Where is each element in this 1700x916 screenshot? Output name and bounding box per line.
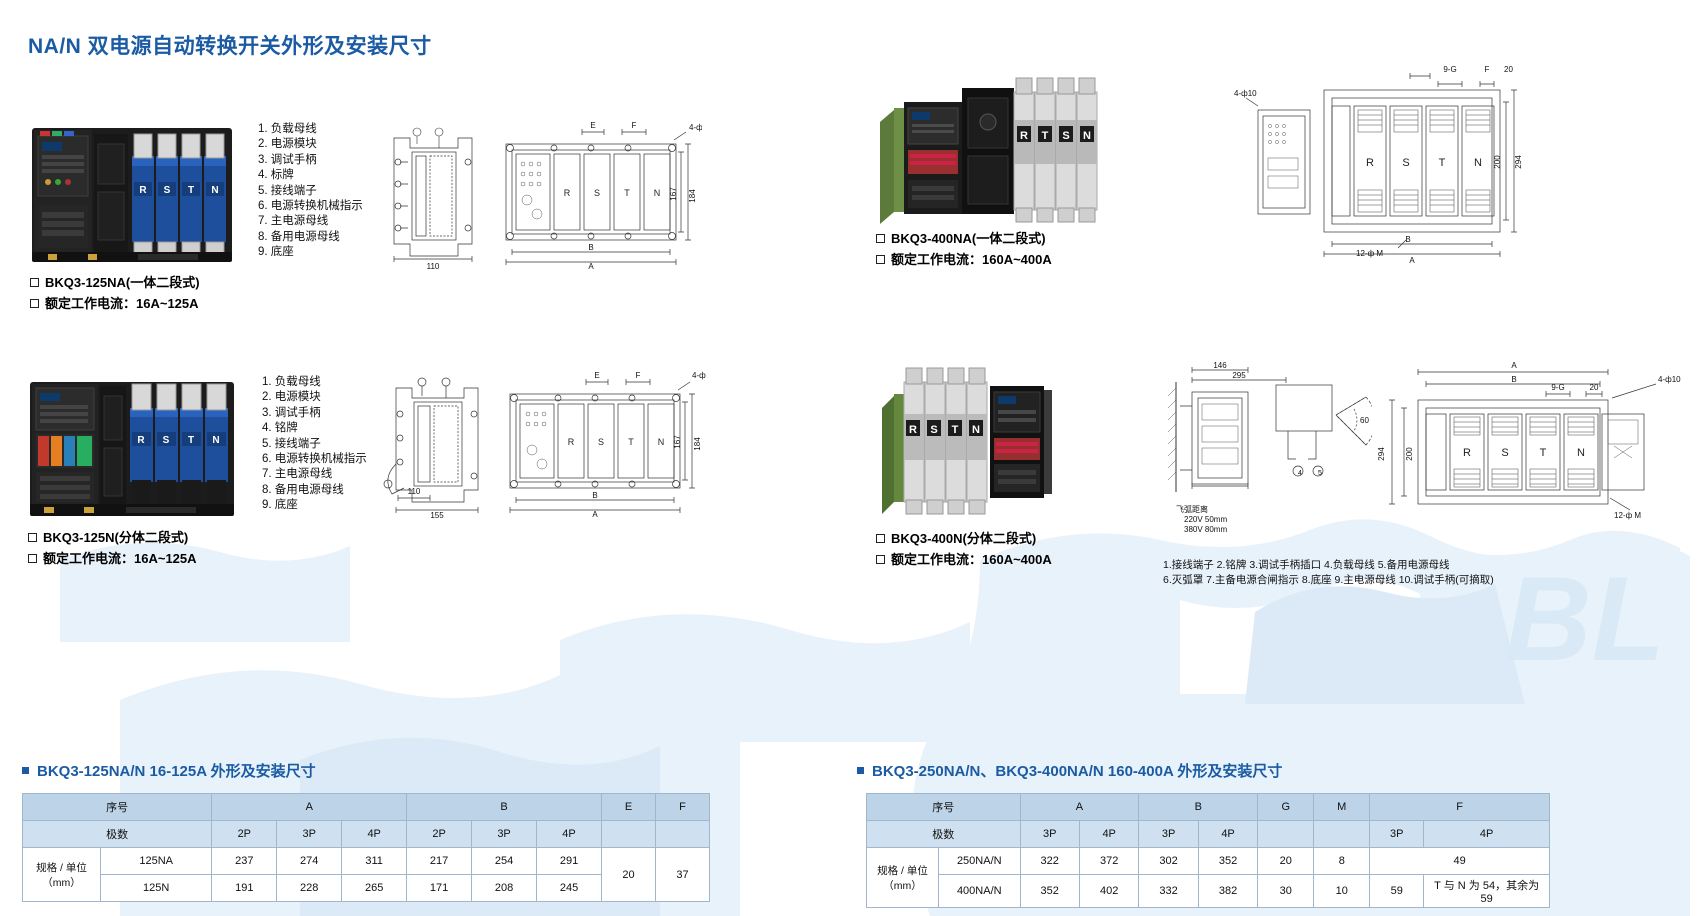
callout-item: 4. 标牌 — [258, 168, 363, 183]
callout-item: 5. 接线端子 — [258, 184, 363, 199]
td-model: 125NA — [101, 848, 212, 875]
section-heading-table-400: BKQ3-250NA/N、BKQ3-400NA/N 160-400A 外形及安装… — [857, 760, 1282, 781]
th-b-3p: 3P — [1139, 821, 1198, 848]
drawing-bkq3-400na: R S T N — [1232, 62, 1532, 267]
table-row: 规格 / 单位（mm） 250NA/N 322 372 302 352 20 8… — [867, 848, 1550, 875]
dim-hole: 4-ф10 — [1658, 375, 1681, 384]
td-spec-unit: 规格 / 单位（mm） — [23, 848, 101, 902]
th-group-b: B — [1139, 794, 1258, 821]
dim-F: F — [1485, 65, 1490, 74]
caption-bkq3-125na: BKQ3-125NA(一体二段式) 额定工作电流：16A~125A — [30, 272, 200, 314]
td-a-4p: 372 — [1079, 848, 1138, 875]
svg-text:R: R — [1463, 447, 1471, 459]
dim-295: 295 — [1232, 371, 1246, 380]
caption-row: 额定工作电流：160A~400A — [876, 249, 1052, 270]
td-a-3p: 274 — [277, 848, 342, 875]
td-a-3p: 228 — [277, 875, 342, 902]
td-M: 8 — [1314, 848, 1370, 875]
callout-item: 7. 主电源母线 — [262, 467, 367, 482]
td-b-2p: 171 — [407, 875, 472, 902]
drawing-side-view-bkq3-125n: 110 155 — [378, 372, 508, 518]
product-photo-bkq3-125na: R S T — [28, 120, 238, 265]
th-F-blank — [656, 821, 710, 848]
svg-text:N: N — [211, 185, 218, 196]
dim-F: F — [632, 122, 637, 130]
th-E: E — [602, 794, 656, 821]
notes-bkq3-400n: 1.接线端子 2.铭牌 3.调试手柄插口 4.负载母线 5.备用电源母线 6.灭… — [1163, 558, 1494, 588]
table-row: 序号 A B E F — [23, 794, 710, 821]
checkbox-icon[interactable] — [28, 533, 37, 542]
caption-bkq3-400n: BKQ3-400N(分体二段式) 额定工作电流：160A~400A — [876, 528, 1052, 570]
svg-text:R: R — [1020, 130, 1028, 142]
callout-item: 2. 电源模块 — [262, 390, 367, 405]
svg-text:5: 5 — [1318, 470, 1322, 477]
callout-item: 7. 主电源母线 — [258, 214, 363, 229]
callout-item: 9. 底座 — [262, 498, 367, 513]
bullet-square-icon — [22, 767, 29, 774]
svg-text:N: N — [212, 435, 219, 446]
section-heading-table-125: BKQ3-125NA/N 16-125A 外形及安装尺寸 — [22, 760, 316, 781]
dim-E: E — [594, 371, 599, 380]
callout-item: 4. 铭牌 — [262, 421, 367, 436]
table-row: 极数 2P 3P 4P 2P 3P 4P — [23, 821, 710, 848]
td-b-4p: 352 — [1198, 848, 1257, 875]
th-b-4p: 4P — [537, 821, 602, 848]
td-model: 250NA/N — [939, 848, 1021, 875]
svg-text:N: N — [1577, 447, 1585, 459]
th-M: M — [1314, 794, 1370, 821]
svg-text:S: S — [930, 424, 937, 436]
checkbox-icon[interactable] — [876, 255, 885, 264]
checkbox-icon[interactable] — [30, 278, 39, 287]
th-f-3p: 3P — [1370, 821, 1424, 848]
dim-184: 184 — [688, 189, 697, 203]
caption-row: 额定工作电流：16A~125A — [28, 548, 197, 569]
notes-line: 6.灭弧罩 7.主备电源合闸指示 8.底座 9.主电源母线 10.调试手柄(可摘… — [1163, 573, 1494, 588]
svg-text:T: T — [1439, 157, 1446, 169]
drawing-front-view-bkq3-125n: R S T N — [500, 368, 706, 518]
th-b-4p: 4P — [1198, 821, 1257, 848]
td-b-2p: 217 — [407, 848, 472, 875]
callout-item: 3. 调试手柄 — [262, 406, 367, 421]
th-xuhao: 序号 — [23, 794, 212, 821]
dim-A: A — [588, 262, 594, 270]
dim-294: 294 — [1514, 155, 1523, 169]
td-b-3p: 332 — [1139, 875, 1198, 908]
th-jishu: 极数 — [23, 821, 212, 848]
section-heading-text: BKQ3-250NA/N、BKQ3-400NA/N 160-400A 外形及安装… — [872, 760, 1282, 781]
svg-text:4: 4 — [1298, 470, 1302, 477]
caption-text: BKQ3-400NA(一体二段式) — [891, 228, 1046, 249]
svg-text:N: N — [654, 188, 661, 198]
caption-bkq3-125n: BKQ3-125N(分体二段式) 额定工作电流：16A~125A — [28, 527, 197, 569]
td-model: 125N — [101, 875, 212, 902]
caption-text: BKQ3-400N(分体二段式) — [891, 528, 1036, 549]
table-125na-n: 序号 A B E F 极数 2P 3P 4P 2P 3P 4P 规格 / 单位（… — [22, 793, 710, 902]
product-photo-bkq3-400n: R S T N — [876, 360, 1098, 518]
dim-mount: 12-ф M — [1356, 249, 1383, 258]
caption-row: BKQ3-400NA(一体二段式) — [876, 228, 1052, 249]
th-group-a: A — [1020, 794, 1139, 821]
section-heading-text: BKQ3-125NA/N 16-125A 外形及安装尺寸 — [37, 760, 316, 781]
svg-text:T: T — [188, 435, 194, 446]
td-f-400-3p: 59 — [1370, 875, 1424, 908]
th-jishu: 极数 — [867, 821, 1021, 848]
dim-A: A — [1409, 256, 1415, 265]
svg-text:R: R — [909, 424, 917, 436]
caption-row: 额定工作电流：160A~400A — [876, 549, 1052, 570]
svg-text:R: R — [564, 188, 571, 198]
td-a-3p: 352 — [1020, 875, 1079, 908]
svg-text:N: N — [1083, 130, 1091, 142]
th-G-blank — [1258, 821, 1314, 848]
checkbox-icon[interactable] — [28, 554, 37, 563]
td-a-2p: 191 — [212, 875, 277, 902]
dim-146: 146 — [1213, 362, 1227, 370]
dim-A: A — [592, 510, 598, 518]
td-model: 400NA/N — [939, 875, 1021, 908]
arc-distance-note: 飞弧距离 220V 50mm 380V 80mm — [1176, 505, 1227, 535]
caption-text: 额定工作电流：160A~400A — [891, 549, 1052, 570]
arc-title: 飞弧距离 — [1176, 505, 1227, 515]
notes-line: 1.接线端子 2.铭牌 3.调试手柄插口 4.负载母线 5.备用电源母线 — [1163, 558, 1494, 573]
th-a-2p: 2P — [212, 821, 277, 848]
td-b-4p: 245 — [537, 875, 602, 902]
caption-row: 额定工作电流：16A~125A — [30, 293, 200, 314]
caption-text: BKQ3-125N(分体二段式) — [43, 527, 188, 548]
td-a-4p: 311 — [342, 848, 407, 875]
dim-mount: 12-ф M — [1614, 511, 1641, 520]
th-a-3p: 3P — [1020, 821, 1079, 848]
th-group-b: B — [407, 794, 602, 821]
dim-110: 110 — [427, 262, 440, 270]
td-a-4p: 402 — [1079, 875, 1138, 908]
svg-text:S: S — [594, 188, 600, 198]
td-G: 20 — [1258, 848, 1314, 875]
dim-167: 167 — [673, 435, 682, 449]
callout-item: 6. 电源转换机械指示 — [258, 199, 363, 214]
dim-A: A — [1511, 361, 1517, 370]
th-G: G — [1258, 794, 1314, 821]
caption-text: 额定工作电流：16A~125A — [43, 548, 197, 569]
table-row: 规格 / 单位（mm） 125NA 237 274 311 217 254 29… — [23, 848, 710, 875]
caption-text: 额定工作电流：16A~125A — [45, 293, 199, 314]
drawing-front-view-bkq3-400n: R S T N — [1374, 358, 1690, 528]
th-xuhao: 序号 — [867, 794, 1021, 821]
th-f-4p: 4P — [1424, 821, 1550, 848]
page-title: NA/N 双电源自动转换开关外形及安装尺寸 — [28, 30, 432, 60]
td-b-4p: 382 — [1198, 875, 1257, 908]
dim-200: 200 — [1493, 155, 1502, 169]
dim-200: 200 — [1405, 447, 1414, 461]
bullet-square-icon — [857, 767, 864, 774]
th-E-blank — [602, 821, 656, 848]
svg-text:T: T — [1042, 130, 1049, 142]
th-M-blank — [1314, 821, 1370, 848]
checkbox-icon[interactable] — [876, 534, 885, 543]
dim-155: 155 — [430, 511, 444, 518]
dim-20: 20 — [1590, 383, 1599, 392]
caption-text: BKQ3-125NA(一体二段式) — [45, 272, 200, 293]
svg-text:S: S — [598, 437, 604, 447]
svg-text:T: T — [1540, 447, 1547, 459]
td-f-250: 49 — [1370, 848, 1550, 875]
th-group-a: A — [212, 794, 407, 821]
dim-294: 294 — [1377, 447, 1386, 461]
td-a-2p: 237 — [212, 848, 277, 875]
dim-hole: 4-ф9 — [692, 371, 706, 380]
callout-list-bkq3-125n: 1. 负载母线 2. 电源模块 3. 调试手柄 4. 铭牌 5. 接线端子 6.… — [262, 375, 367, 514]
product-photo-bkq3-125n: R S T — [26, 372, 238, 520]
svg-text:S: S — [1501, 447, 1508, 459]
callout-item: 1. 负载母线 — [258, 122, 363, 137]
td-spec-unit: 规格 / 单位（mm） — [867, 848, 939, 908]
table-row: 400NA/N 352 402 332 382 30 10 59 T 与 N 为… — [867, 875, 1550, 908]
callout-item: 5. 接线端子 — [262, 437, 367, 452]
th-b-2p: 2P — [407, 821, 472, 848]
svg-text:S: S — [1402, 157, 1409, 169]
callout-item: 1. 负载母线 — [262, 375, 367, 390]
callout-item: 3. 调试手柄 — [258, 153, 363, 168]
drawing-side-view-bkq3-125na: 110 — [380, 122, 490, 270]
callout-item: 8. 备用电源母线 — [258, 230, 363, 245]
th-a-4p: 4P — [1079, 821, 1138, 848]
svg-text:T: T — [628, 437, 634, 447]
svg-text:T: T — [188, 185, 194, 196]
svg-text:R: R — [1366, 157, 1374, 169]
td-G: 30 — [1258, 875, 1314, 908]
svg-text:R: R — [137, 435, 145, 446]
checkbox-icon[interactable] — [876, 234, 885, 243]
dim-20: 20 — [1504, 65, 1513, 74]
svg-text:S: S — [163, 435, 170, 446]
svg-text:R: R — [139, 185, 147, 196]
dim-B: B — [1405, 235, 1410, 244]
td-b-4p: 291 — [537, 848, 602, 875]
table-row: 序号 A B G M F — [867, 794, 1550, 821]
caption-text: 额定工作电流：160A~400A — [891, 249, 1052, 270]
product-photo-bkq3-400na: R T S — [872, 62, 1100, 230]
caption-bkq3-400na: BKQ3-400NA(一体二段式) 额定工作电流：160A~400A — [876, 228, 1052, 270]
th-group-f: F — [1370, 794, 1550, 821]
dim-B: B — [1511, 375, 1516, 384]
td-a-4p: 265 — [342, 875, 407, 902]
callout-item: 8. 备用电源母线 — [262, 483, 367, 498]
svg-text:R: R — [568, 437, 575, 447]
dim-184: 184 — [693, 437, 702, 451]
callout-item: 2. 电源模块 — [258, 137, 363, 152]
svg-text:N: N — [658, 437, 665, 447]
dim-9-G: 9-G — [1443, 65, 1456, 74]
svg-text:T: T — [952, 424, 959, 436]
td-M: 10 — [1314, 875, 1370, 908]
arc-row: 220V 50mm — [1176, 515, 1227, 525]
td-b-3p: 302 — [1139, 848, 1198, 875]
th-F: F — [656, 794, 710, 821]
th-a-3p: 3P — [277, 821, 342, 848]
dim-B: B — [592, 491, 597, 500]
dim-60: 60 — [1360, 416, 1369, 425]
th-b-3p: 3P — [472, 821, 537, 848]
dim-B: B — [588, 243, 593, 252]
arc-row: 380V 80mm — [1176, 525, 1227, 535]
td-E: 20 — [602, 848, 656, 902]
svg-text:N: N — [972, 424, 980, 436]
dim-110: 110 — [408, 487, 421, 496]
table-250-400na-n: 序号 A B G M F 极数 3P 4P 3P 4P 3P 4P 规格 / 单… — [866, 793, 1550, 908]
dim-9-G: 9-G — [1551, 383, 1564, 392]
th-a-4p: 4P — [342, 821, 407, 848]
td-F: 37 — [656, 848, 710, 902]
callout-item: 9. 底座 — [258, 245, 363, 260]
dim-hole-left: 4-ф10 — [1234, 89, 1257, 98]
dim-F: F — [636, 371, 641, 380]
caption-row: BKQ3-400N(分体二段式) — [876, 528, 1052, 549]
drawing-arc-bkq3-400n: 4 5 60 — [1262, 375, 1372, 505]
td-f-400-4p: T 与 N 为 54，其余为 59 — [1424, 875, 1550, 908]
svg-text:T: T — [624, 188, 630, 198]
caption-row: BKQ3-125N(分体二段式) — [28, 527, 197, 548]
drawing-front-view-bkq3-125na: R S T N — [496, 122, 702, 270]
checkbox-icon[interactable] — [30, 299, 39, 308]
table-row: 极数 3P 4P 3P 4P 3P 4P — [867, 821, 1550, 848]
td-a-3p: 322 — [1020, 848, 1079, 875]
svg-text:N: N — [1474, 157, 1482, 169]
svg-text:S: S — [164, 185, 171, 196]
caption-row: BKQ3-125NA(一体二段式) — [30, 272, 200, 293]
dim-167: 167 — [669, 187, 678, 201]
callout-item: 6. 电源转换机械指示 — [262, 452, 367, 467]
checkbox-icon[interactable] — [876, 555, 885, 564]
td-b-3p: 254 — [472, 848, 537, 875]
td-b-3p: 208 — [472, 875, 537, 902]
dim-hole: 4-ф9 — [689, 123, 702, 132]
dim-E: E — [590, 122, 595, 130]
callout-list-bkq3-125na: 1. 负载母线 2. 电源模块 3. 调试手柄 4. 标牌 5. 接线端子 6.… — [258, 122, 363, 261]
svg-text:S: S — [1062, 130, 1069, 142]
